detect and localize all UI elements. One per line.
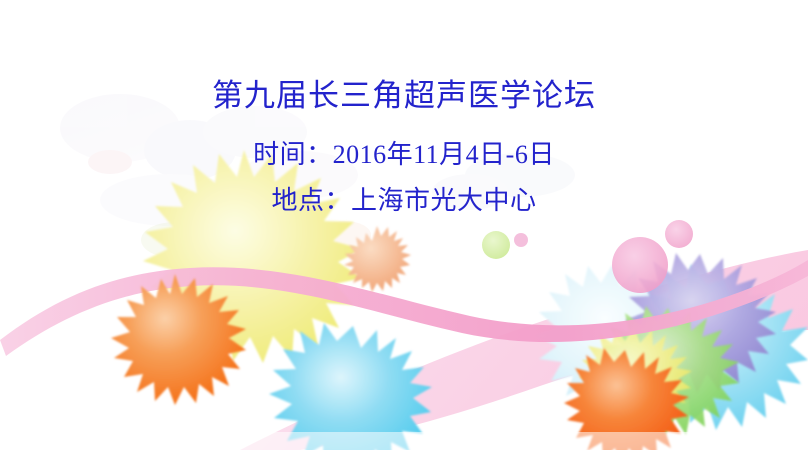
decorative-artwork <box>0 0 808 450</box>
bottom-fade <box>0 432 808 450</box>
presentation-slide: 第九届长三角超声医学论坛 时间：2016年11月4日-6日 地点：上海市光大中心 <box>0 0 808 450</box>
circle-pink-small <box>665 220 693 248</box>
circle-pink-dot <box>514 233 528 247</box>
circle-pink-large <box>612 237 668 293</box>
circle-green-dot <box>482 231 510 259</box>
